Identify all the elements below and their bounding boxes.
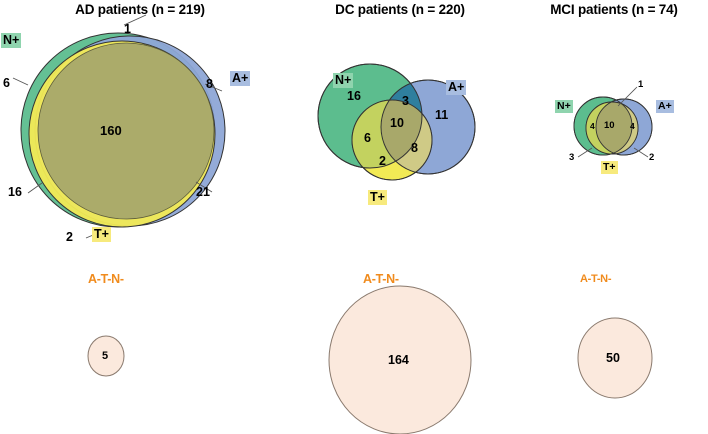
atn-negative-count-dc: 164	[388, 353, 409, 367]
venn-diagram-dc	[280, 0, 520, 260]
set-label-a-positive-mci: A+	[656, 100, 674, 113]
region-count-ad-a-only: 8	[206, 77, 213, 91]
set-label-n-positive-dc: N+	[333, 73, 353, 88]
venn-diagram-ad	[0, 0, 280, 260]
set-label-n-positive-ad: N+	[1, 33, 21, 48]
leader-line-mci-3	[578, 148, 592, 157]
venn-circles-ad	[21, 33, 225, 227]
panel-dc-patients: DC patients (n = 220)	[280, 0, 520, 434]
set-label-n-positive-mci: N+	[555, 100, 573, 113]
atn-negative-circle-ad	[0, 330, 280, 390]
region-count-dc-a-only: 11	[435, 108, 448, 122]
atn-negative-count-ad: 5	[102, 350, 108, 362]
atn-negative-label-dc: A-T-N-	[363, 272, 399, 286]
set-label-t-positive-mci: T+	[601, 161, 618, 174]
region-count-dc-t-n: 6	[364, 131, 371, 145]
region-count-dc-a-t: 8	[411, 141, 418, 155]
region-count-dc-n-only: 16	[347, 89, 361, 103]
atn-negative-label-ad: A-T-N-	[88, 272, 124, 286]
set-label-a-positive-dc: A+	[446, 80, 466, 95]
region-count-mci-a-n: 1	[638, 79, 643, 90]
region-count-ad-triple: 160	[100, 123, 122, 138]
panel-mci-patients: MCI patients (n = 74)	[520, 0, 708, 434]
region-count-mci-a-t: 4	[630, 121, 635, 131]
atn-negative-count-mci: 50	[606, 351, 620, 365]
region-count-mci-a-only: 2	[649, 152, 654, 163]
region-count-mci-triple: 10	[604, 120, 615, 131]
region-count-mci-n-only: 3	[569, 152, 574, 163]
region-count-ad-a-n: 1	[124, 22, 131, 36]
region-count-mci-t-n: 4	[590, 121, 595, 131]
region-triple-overlap-ad	[38, 43, 214, 219]
region-count-ad-a-t: 21	[196, 185, 210, 199]
region-count-ad-n-only: 6	[3, 76, 10, 90]
region-count-ad-t-only: 2	[66, 230, 73, 244]
region-count-ad-t-n: 16	[8, 185, 22, 199]
region-count-dc-t-only: 2	[379, 154, 386, 168]
region-count-dc-a-n: 3	[402, 94, 409, 108]
atn-negative-label-mci: A-T-N-	[580, 273, 611, 285]
set-label-a-positive-ad: A+	[230, 71, 250, 86]
leader-line-6	[13, 78, 28, 85]
set-label-t-positive-dc: T+	[368, 190, 387, 205]
region-count-dc-triple: 10	[390, 116, 404, 130]
panel-ad-patients: AD patients (n = 219) N+ A+ T+ 160 1 8 2…	[0, 0, 280, 434]
set-label-t-positive-ad: T+	[92, 227, 111, 242]
